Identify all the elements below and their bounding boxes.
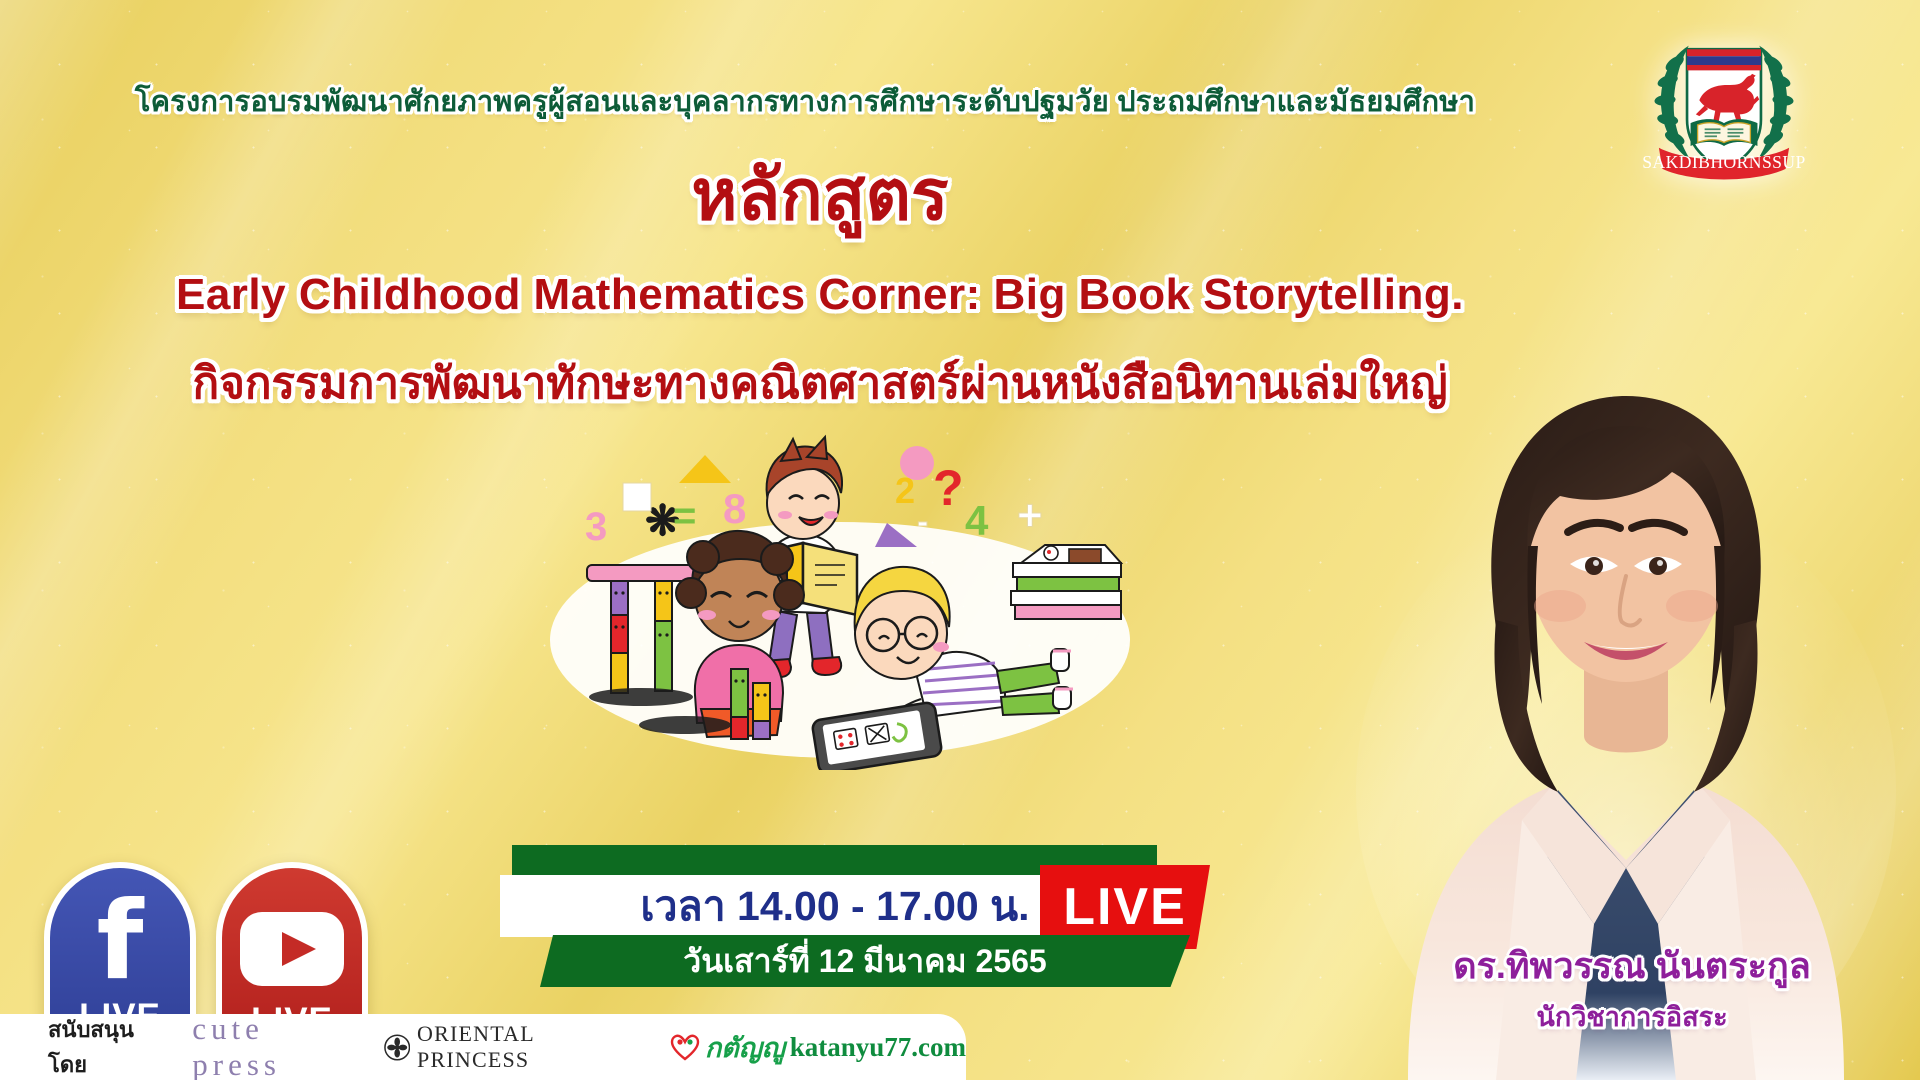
sponsor-logo-oriental-princess: ORIENTAL PRINCESS [384, 1021, 648, 1073]
sponsor-logo-katanyu: กตัญญู katanyu77.com [670, 1026, 966, 1069]
sponsor-bar: สนับสนุนโดย cute press ORIENTAL PRINCESS [0, 1014, 966, 1080]
schedule-time-text: เวลา 14.00 - 17.00 น. [640, 874, 1029, 939]
youtube-icon [240, 912, 344, 991]
math-symbol-4: 4 [965, 497, 989, 544]
math-symbol-question: ? [933, 460, 964, 516]
poster-canvas: โครงการอบรมพัฒนาศักยภาพครูผู้สอนและบุคลา… [0, 0, 1920, 1080]
presenter-role: นักวิชาการอิสระ [1362, 995, 1902, 1038]
schedule-date-text: วันเสาร์ที่ 12 มีนาคม 2565 [683, 936, 1046, 987]
math-shape-square [623, 483, 651, 511]
math-symbol-minus: - [917, 503, 928, 541]
program-title-line: โครงการอบรมพัฒนาศักยภาพครูผู้สอนและบุคลา… [0, 78, 1610, 124]
sponsor-name-katanyu-domain: katanyu77.com [790, 1032, 966, 1063]
live-badge-label: LIVE [1063, 877, 1187, 937]
math-shape-circle-pink [900, 446, 934, 480]
math-symbol-plus: + [1017, 491, 1043, 540]
course-title-english: Early Childhood Mathematics Corner: Big … [0, 270, 1640, 320]
crest-banner-text: SAKDIBHORNSSUP [1642, 152, 1806, 172]
sponsor-name-oriental-princess: ORIENTAL PRINCESS [417, 1021, 648, 1073]
flower-emblem-icon [384, 1034, 410, 1061]
math-symbol-equals: = [673, 494, 696, 538]
math-symbol-3: 3 [585, 505, 607, 549]
sakdibhornssup-crest-logo: SAKDIBHORNSSUP [1636, 14, 1812, 190]
sponsor-logo-cutepress: cute press [192, 1011, 361, 1080]
sponsor-name-katanyu-thai: กตัญญู [705, 1026, 785, 1069]
course-label: หลักสูตร [0, 160, 1640, 230]
children-learning-math-illustration: 3 ❋ = 8 2 ? 4 + - [545, 425, 1135, 770]
math-shape-triangle-yellow [679, 455, 731, 483]
schedule-date-bar: วันเสาร์ที่ 12 มีนาคม 2565 [540, 935, 1190, 987]
sponsor-label: สนับสนุนโดย [48, 1012, 170, 1080]
heart-people-icon [670, 1033, 700, 1061]
facebook-icon: f [97, 898, 144, 987]
math-symbol-8: 8 [723, 485, 746, 532]
presenter-name: ดร.ทิพวรรณ นันตระกูล [1362, 937, 1902, 994]
